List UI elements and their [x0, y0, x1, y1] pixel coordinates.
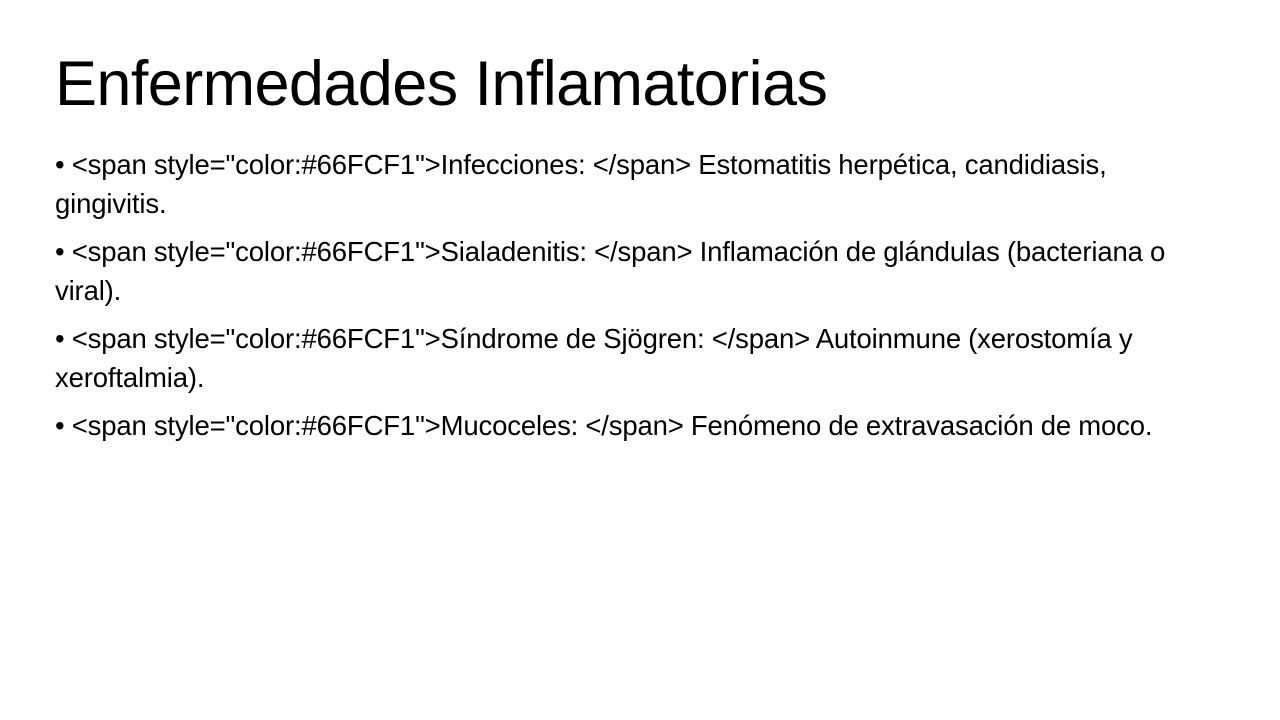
list-item-text: <span style="color:#66FCF1">Mucoceles: <… [72, 410, 1153, 441]
bullet-glyph-icon: • [55, 323, 64, 354]
page-title: Enfermedades Inflamatorias [55, 47, 1225, 121]
list-item-text: <span style="color:#66FCF1">Sialadenitis… [55, 236, 1165, 306]
list-item: • <span style="color:#66FCF1">Infeccione… [55, 146, 1205, 223]
bullet-glyph-icon: • [55, 236, 64, 267]
list-item-text: <span style="color:#66FCF1">Infecciones:… [55, 149, 1107, 219]
bullet-list: • <span style="color:#66FCF1">Infeccione… [55, 146, 1205, 446]
list-item: • <span style="color:#66FCF1">Síndrome d… [55, 320, 1205, 397]
bullet-glyph-icon: • [55, 410, 64, 441]
slide-canvas: Enfermedades Inflamatorias • <span style… [0, 0, 1280, 720]
list-item-text: <span style="color:#66FCF1">Síndrome de … [55, 323, 1133, 393]
bullet-glyph-icon: • [55, 149, 64, 180]
list-item: • <span style="color:#66FCF1">Mucoceles:… [55, 407, 1205, 446]
list-item: • <span style="color:#66FCF1">Sialadenit… [55, 233, 1205, 310]
